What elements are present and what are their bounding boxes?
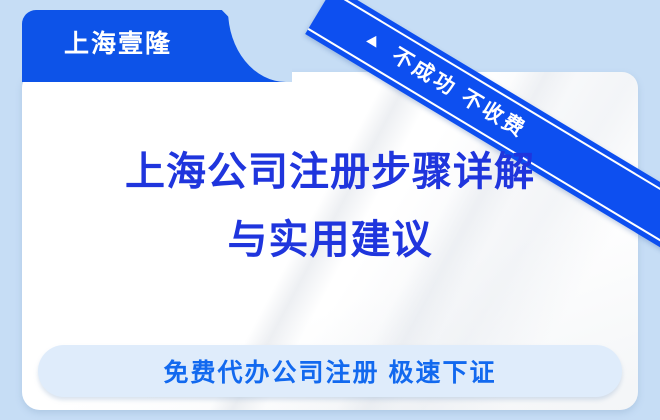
headline-line-1: 上海公司注册步骤详解 bbox=[22, 138, 638, 206]
triangle-up-icon bbox=[366, 33, 381, 48]
promo-banner-text: 免费代办公司注册 极速下证 bbox=[164, 353, 497, 389]
page-title: 上海公司注册步骤详解 与实用建议 bbox=[22, 138, 638, 274]
company-name-label: 上海壹隆 bbox=[64, 24, 172, 64]
headline-line-2: 与实用建议 bbox=[22, 206, 638, 274]
promotional-banner: 上海壹隆 不成功 不收费 上海公司注册步骤详解 与实用建议 免费代办公司注册 极… bbox=[0, 0, 660, 420]
promo-banner-pill: 免费代办公司注册 极速下证 bbox=[38, 345, 622, 397]
company-name-tab: 上海壹隆 bbox=[22, 10, 292, 82]
